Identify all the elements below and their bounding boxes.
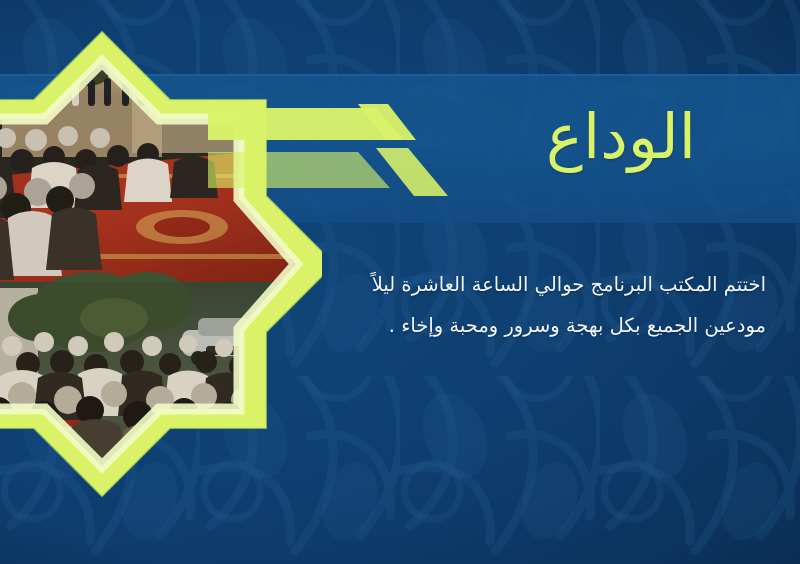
page-title: الوداع [276, 104, 696, 169]
presentation-slide: الوداع اختتم المكتب البرنامج حوالي الساع… [0, 0, 800, 564]
eight-point-star-photo-frame [0, 22, 322, 534]
body-paragraph: اختتم المكتب البرنامج حوالي الساعة العاش… [346, 264, 766, 346]
